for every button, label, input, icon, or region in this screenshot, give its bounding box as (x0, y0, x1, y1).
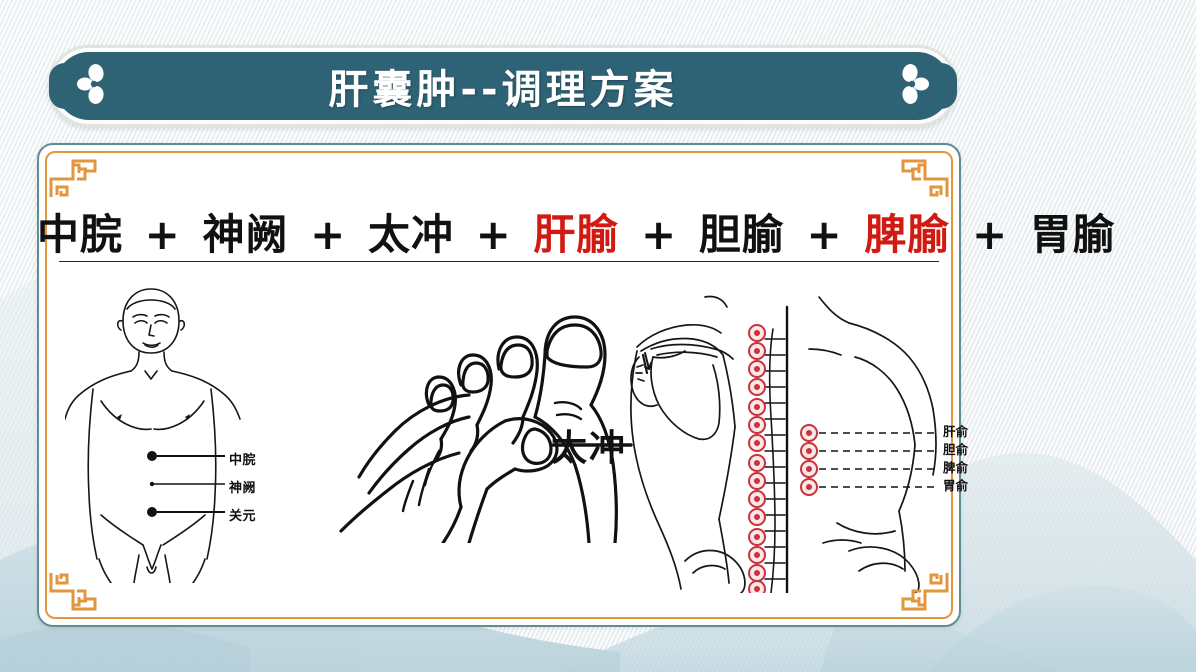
banner-plaque: 肝囊肿--调理方案 (55, 52, 951, 120)
chinese-fret-corner-icon-bottom-left (43, 543, 117, 621)
foot-label-taichong: 太冲 (551, 419, 627, 471)
trefoil-flower-icon-right (895, 63, 929, 109)
back-label-ganshu: 肝俞 (943, 426, 968, 439)
chinese-fret-corner-icon-top-right (881, 149, 955, 227)
title-banner: 肝囊肿--调理方案 (48, 45, 958, 127)
section-divider (59, 261, 939, 262)
formula-separator-2: + (470, 210, 518, 259)
formula-separator-0: + (139, 210, 187, 259)
front-label-shenque: 神阙 (229, 477, 256, 496)
formula-point-2: 太冲 (368, 210, 454, 259)
back-label-danshu: 胆俞 (943, 444, 968, 457)
front-label-zhongwan: 中脘 (229, 449, 256, 468)
page-title: 肝囊肿--调理方案 (328, 57, 677, 115)
chinese-fret-corner-icon-top-left (43, 149, 117, 227)
front-label-guanyuan: 关元 (229, 505, 256, 524)
foot-and-hand-line-art (309, 293, 639, 543)
front-body-diagram: 中脘 神阙 关元 (65, 283, 300, 583)
foot-taichong-diagram: 太冲 (309, 293, 639, 543)
back-label-pishu: 脾俞 (943, 462, 968, 475)
formula-point-4: 胆腧 (699, 210, 785, 259)
formula-point-3: 肝腧 (533, 210, 619, 259)
formula-separator-1: + (304, 210, 352, 259)
chinese-fret-corner-icon-bottom-right (881, 543, 955, 621)
formula-separator-3: + (635, 210, 683, 259)
acupoint-formula: 中脘 + 神阙 + 太冲 + 肝腧 + 胆腧 + 脾腧 + 胃腧 (37, 201, 961, 262)
formula-point-1: 神阙 (202, 210, 288, 259)
formula-separator-4: + (801, 210, 849, 259)
front-body-point-markers (65, 283, 300, 583)
formula-separator-5: + (966, 210, 1014, 259)
trefoil-flower-icon-left (77, 63, 111, 109)
back-label-weishu: 胃俞 (943, 480, 968, 493)
formula-point-6: 胃腧 (1030, 210, 1116, 259)
content-frame: 中脘 + 神阙 + 太冲 + 肝腧 + 胆腧 + 脾腧 + 胃腧 (37, 143, 961, 627)
